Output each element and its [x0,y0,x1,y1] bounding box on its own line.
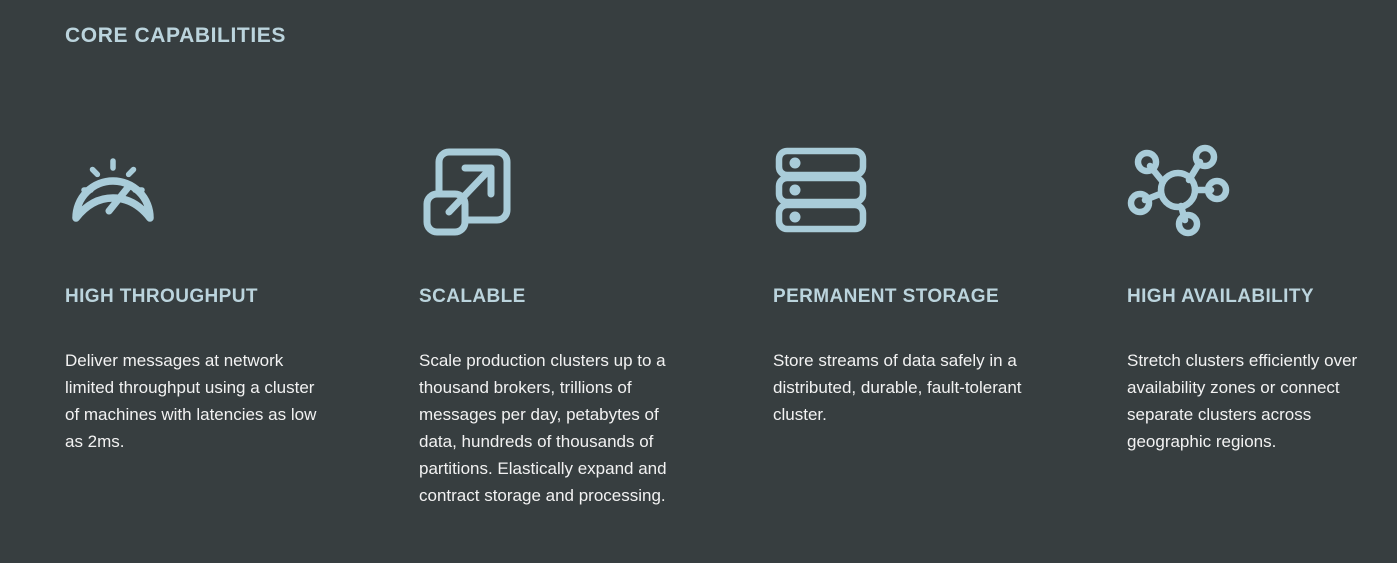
capability-card-high-throughput: HIGH THROUGHPUT Deliver messages at netw… [65,140,419,455]
capability-title: PERMANENT STORAGE [773,287,1127,308]
server-stack-icon [773,140,1127,240]
capability-description: Deliver messages at network limited thro… [65,347,333,455]
capability-card-permanent-storage: PERMANENT STORAGE Store streams of data … [773,140,1127,428]
capability-description: Store streams of data safely in a distri… [773,347,1041,428]
capability-description: Scale production clusters up to a thousa… [419,347,687,509]
network-hub-icon [1127,140,1397,240]
capability-description: Stretch clusters efficiently over availa… [1127,347,1395,455]
expand-arrow-icon [419,140,773,240]
capability-card-list: HIGH THROUGHPUT Deliver messages at netw… [65,140,1397,509]
page-title: CORE CAPABILITIES [65,24,286,48]
capability-title: SCALABLE [419,287,773,308]
gauge-icon [65,140,419,240]
capability-title: HIGH THROUGHPUT [65,287,419,308]
capability-card-high-availability: HIGH AVAILABILITY Stretch clusters effic… [1127,140,1397,455]
core-capabilities-section: CORE CAPABILITIES [0,0,1397,563]
capability-title: HIGH AVAILABILITY [1127,287,1397,308]
capability-card-scalable: SCALABLE Scale production clusters up to… [419,140,773,509]
